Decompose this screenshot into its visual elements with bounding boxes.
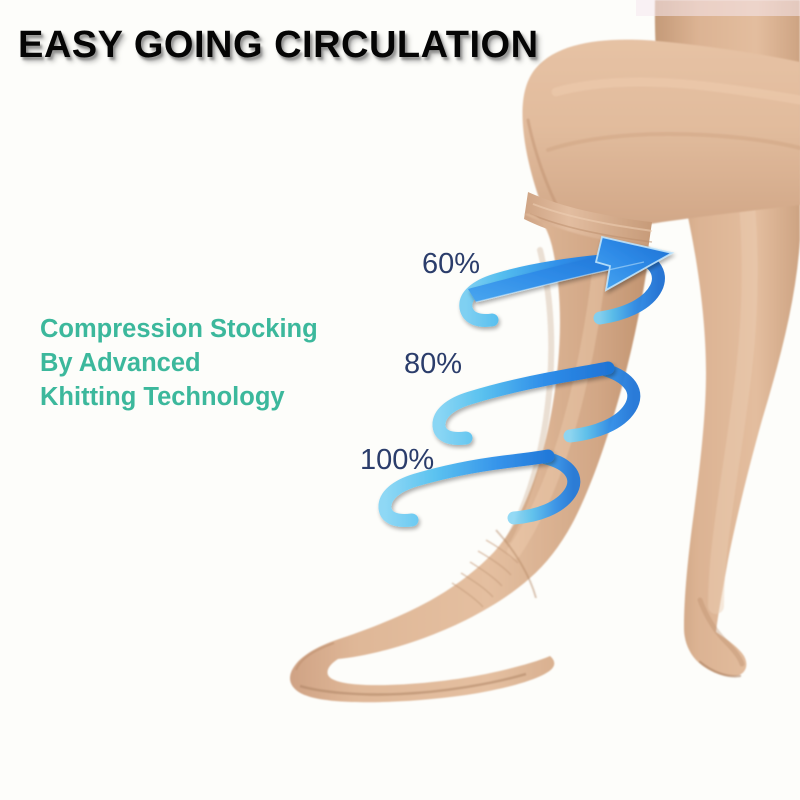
compression-label-80: 80% xyxy=(404,348,462,381)
product-tagline: Compression Stocking By Advanced Khittin… xyxy=(40,312,318,414)
compression-label-60: 60% xyxy=(422,248,480,281)
tagline-line-2: By Advanced xyxy=(40,346,318,380)
tagline-line-3: Khitting Technology xyxy=(40,380,318,414)
compression-stocking-poster: EASY GOING CIRCULATION Compression Stock… xyxy=(0,0,800,800)
page-title: EASY GOING CIRCULATION xyxy=(18,24,539,67)
compression-label-100: 100% xyxy=(360,444,434,477)
tagline-line-1: Compression Stocking xyxy=(40,312,318,346)
